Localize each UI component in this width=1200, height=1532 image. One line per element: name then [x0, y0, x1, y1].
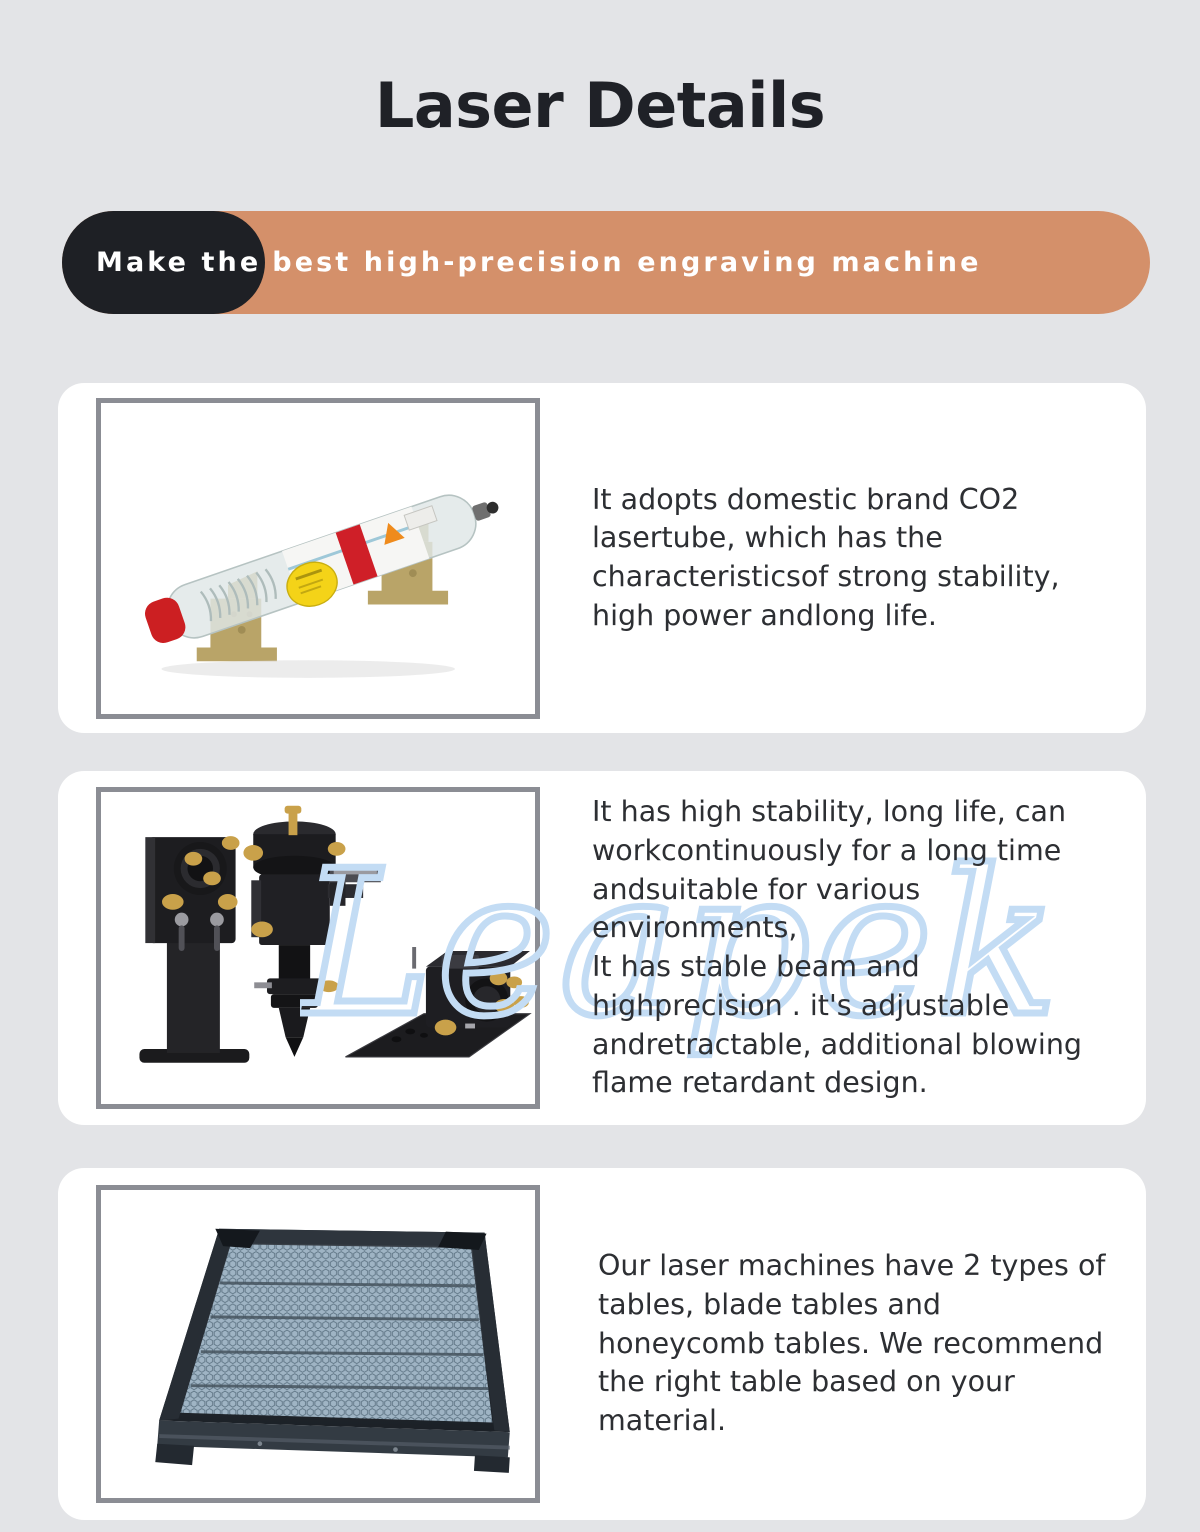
- card-description: It has high stability, long life, can wo…: [540, 793, 1146, 1103]
- banner-rest-label: best high-precision engraving machine: [272, 247, 981, 278]
- laser-head-mirror-mounts-photo: [96, 787, 540, 1109]
- banner-text: Make the best high-precision engraving m…: [62, 211, 1150, 314]
- card-description: It adopts domestic brand CO2 lasertube, …: [540, 481, 1146, 636]
- honeycomb-table-photo: [96, 1185, 540, 1503]
- feature-card: It has high stability, long life, can wo…: [58, 771, 1146, 1125]
- co2-laser-tube-photo: [96, 398, 540, 719]
- card-description: Our laser machines have 2 types of table…: [540, 1247, 1146, 1441]
- banner-pill-label: Make the: [96, 247, 261, 278]
- headline-banner: Make the best high-precision engraving m…: [62, 211, 1150, 314]
- feature-card: It adopts domestic brand CO2 lasertube, …: [58, 383, 1146, 733]
- page-title: Laser Details: [0, 0, 1200, 140]
- feature-card: Our laser machines have 2 types of table…: [58, 1168, 1146, 1520]
